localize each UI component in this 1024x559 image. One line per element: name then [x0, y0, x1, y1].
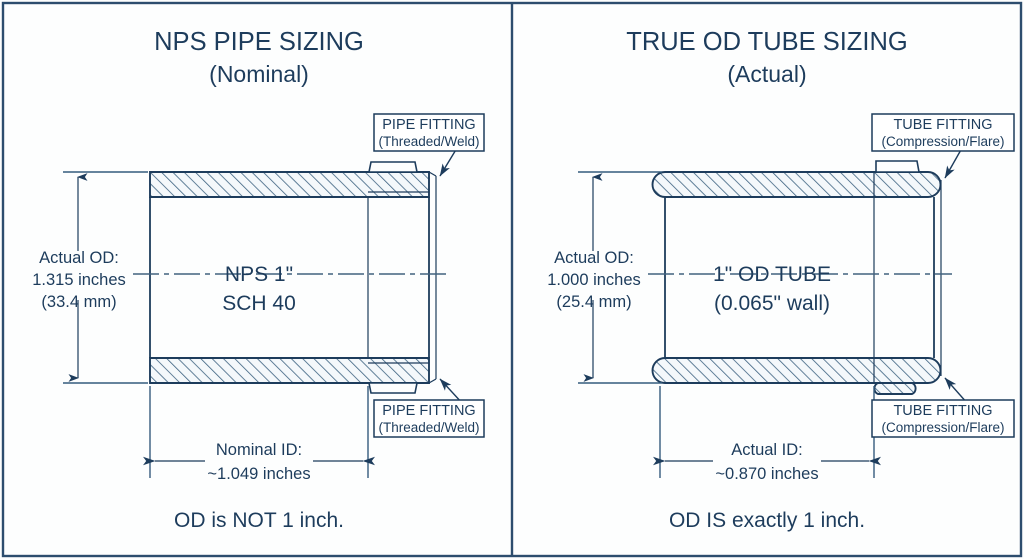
panel-title-sub: (Nominal): [209, 61, 309, 87]
panel-true-od-tube: TRUE OD TUBE SIZING (Actual): [547, 28, 1014, 532]
callout-top-subtitle: (Compression/Flare): [881, 134, 1004, 149]
panel-title-sub: (Actual): [727, 61, 806, 87]
od-label-line-1: Actual OD:: [554, 249, 634, 267]
id-label-line-1: Actual ID:: [731, 441, 803, 459]
pipe-end-chamfer-bottom: [429, 379, 436, 383]
pipe-body-label-line-1: NPS 1": [225, 263, 293, 286]
tube-fitting-nut-top: [876, 161, 919, 172]
dimension-outside-diameter: Actual OD: 1.315 inches (33.4 mm): [32, 172, 148, 383]
pipe-end-chamfer-top: [429, 172, 436, 176]
panel-caption: OD is NOT 1 inch.: [174, 509, 344, 532]
panel-caption: OD IS exactly 1 inch.: [669, 509, 865, 532]
od-label-line-3: (25.4 mm): [556, 293, 631, 311]
pipe-wall-top: [150, 172, 429, 197]
id-label-line-1: Nominal ID:: [216, 441, 302, 459]
tube-wall-top: [652, 172, 940, 197]
pipe-fitting-collar-bottom: [369, 383, 417, 393]
pipe-wall-bottom: [150, 358, 429, 383]
id-label-line-2: ~0.870 inches: [715, 465, 818, 483]
panel-title-main: TRUE OD TUBE SIZING: [626, 28, 907, 56]
callout-leader-top: [945, 148, 962, 178]
callout-bottom-subtitle: (Compression/Flare): [881, 420, 1004, 435]
tube-fitting-nut-bottom: [874, 383, 915, 394]
pipe-body-label-line-2: SCH 40: [222, 292, 296, 315]
dimension-inside-diameter: Nominal ID: ~1.049 inches: [150, 386, 368, 483]
tube-wall-bottom: [652, 358, 940, 383]
od-label-line-2: 1.000 inches: [547, 271, 641, 289]
od-label-line-3: (33.4 mm): [41, 293, 116, 311]
dimension-outside-diameter: Actual OD: 1.000 inches (25.4 mm): [547, 172, 662, 383]
od-label-line-2: 1.315 inches: [32, 271, 126, 289]
callout-bottom-subtitle: (Threaded/Weld): [378, 420, 479, 435]
callout-top-subtitle: (Threaded/Weld): [378, 134, 479, 149]
panel-nps-pipe: NPS PIPE SIZING (Nominal): [32, 28, 484, 532]
diagram-canvas: NPS PIPE SIZING (Nominal): [0, 0, 1024, 559]
panel-title-main: NPS PIPE SIZING: [154, 28, 364, 56]
dimension-inside-diameter: Actual ID: ~0.870 inches: [660, 386, 874, 483]
pipe-fitting-collar-top: [369, 162, 417, 172]
tube-body-label-line-2: (0.065" wall): [714, 292, 830, 315]
tube-body-label-line-1: 1" OD TUBE: [713, 263, 831, 286]
callout-bottom-title: TUBE FITTING: [893, 403, 992, 419]
id-label-line-2: ~1.049 inches: [207, 465, 310, 483]
technical-drawing: NPS PIPE SIZING (Nominal): [0, 0, 1024, 559]
callout-top-title: PIPE FITTING: [382, 117, 475, 133]
od-label-line-1: Actual OD:: [39, 249, 119, 267]
callout-bottom-title: PIPE FITTING: [382, 403, 475, 419]
callout-leader-top: [440, 148, 457, 176]
callout-top-title: TUBE FITTING: [893, 117, 992, 133]
